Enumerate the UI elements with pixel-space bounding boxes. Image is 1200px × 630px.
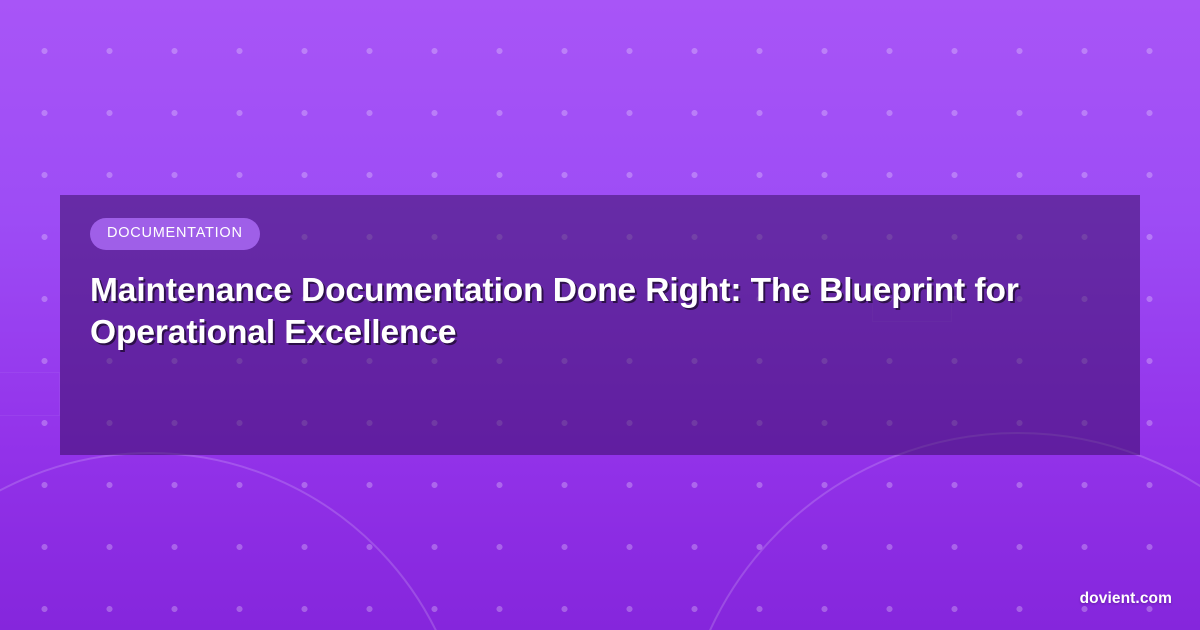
decorative-circle-left: [0, 452, 470, 630]
content-card: DOCUMENTATION Maintenance Documentation …: [60, 195, 1140, 455]
page-title: Maintenance Documentation Done Right: Th…: [90, 270, 1115, 355]
category-badge: DOCUMENTATION: [90, 218, 260, 250]
site-watermark: dovient.com: [1080, 590, 1172, 608]
social-share-banner: DOCUMENTATION Maintenance Documentation …: [0, 0, 1200, 630]
decorative-rectangle-left: [0, 372, 60, 416]
